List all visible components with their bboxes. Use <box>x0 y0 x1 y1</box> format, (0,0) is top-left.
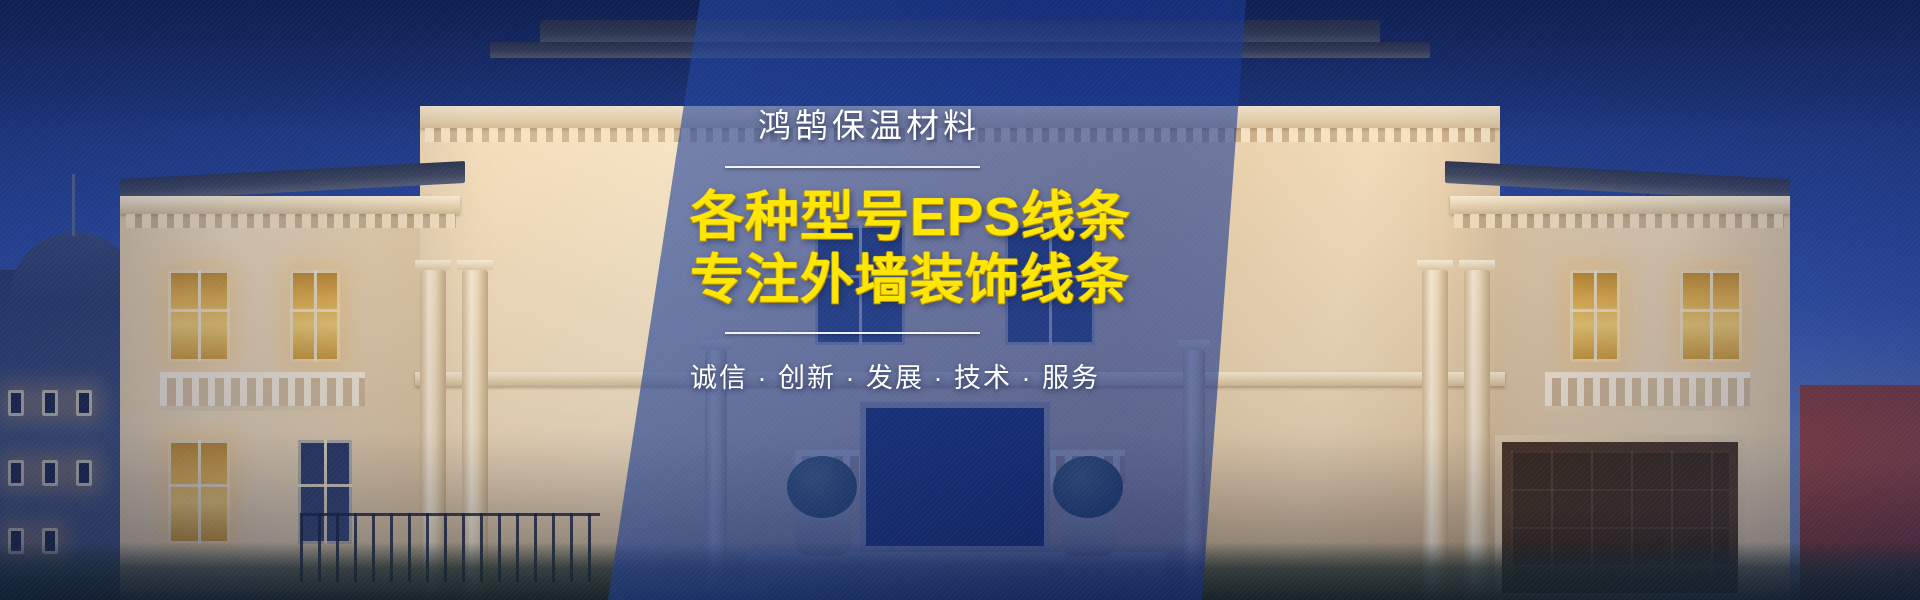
banner-content: 鸿鹄保温材料 各种型号EPS线条 专注外墙装饰线条 诚信 · 创新 · 发展 ·… <box>690 108 980 395</box>
divider-bottom <box>725 332 980 334</box>
headline-line-1: 各种型号EPS线条 <box>690 186 980 249</box>
tagline: 诚信 · 创新 · 发展 · 技术 · 服务 <box>690 356 980 395</box>
brand-eyebrow: 鸿鹄保温材料 <box>690 108 980 144</box>
hero-banner: 鸿鹄保温材料 各种型号EPS线条 专注外墙装饰线条 诚信 · 创新 · 发展 ·… <box>0 0 1920 600</box>
divider-top <box>725 166 980 168</box>
headline-line-2: 专注外墙装饰线条 <box>690 249 980 312</box>
